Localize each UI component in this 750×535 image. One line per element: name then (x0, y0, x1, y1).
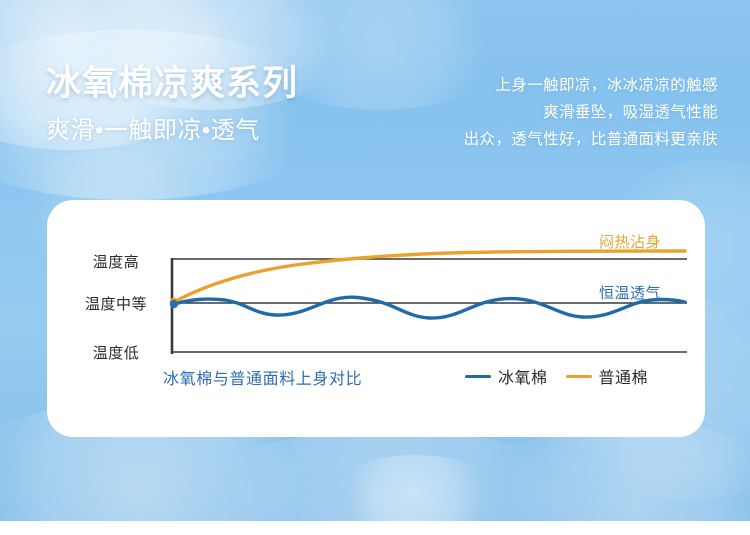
description-line-3: 出众，透气性好，比普通面料更亲肤 (388, 126, 718, 153)
legend-item-ice-oxygen-cotton: 冰氧棉 (465, 364, 548, 388)
chart-card: 温度高 温度中等 温度低 闷热沾身 恒温透气 冰氧棉与普通面料上身对比 冰氧棉 … (47, 200, 705, 437)
legend-label-ice-oxygen-cotton: 冰氧棉 (498, 364, 548, 388)
legend-swatch-blue (465, 375, 491, 378)
legend-item-ordinary-cotton: 普通棉 (566, 364, 649, 388)
chart-caption: 冰氧棉与普通面料上身对比 (163, 365, 362, 389)
poster-root: 冰氧棉凉爽系列 爽滑•一触即凉•透气 上身一触即凉，冰冰凉凉的触感 爽滑垂坠，吸… (0, 0, 750, 535)
description-block: 上身一触即凉，冰冰凉凉的触感 爽滑垂坠，吸湿透气性能 出众，透气性好，比普通面料… (388, 72, 718, 153)
chart-area: 温度高 温度中等 温度低 闷热沾身 恒温透气 冰氧棉与普通面料上身对比 冰氧棉 … (47, 200, 705, 437)
y-tick-label-medium: 温度中等 (60, 293, 172, 314)
y-tick-label-low: 温度低 (60, 342, 172, 363)
legend-swatch-orange (566, 375, 592, 378)
page-title: 冰氧棉凉爽系列 (46, 62, 406, 106)
bottom-white-strip (0, 521, 750, 535)
annotation-constant-temperature: 恒温透气 (599, 282, 661, 303)
page-subtitle: 爽滑•一触即凉•透气 (46, 115, 406, 147)
annotation-stuffy-sticky: 闷热沾身 (599, 231, 661, 252)
y-tick-label-high: 温度高 (60, 251, 172, 272)
headline-block: 冰氧棉凉爽系列 爽滑•一触即凉•透气 (46, 62, 406, 147)
cloud-shape (180, 430, 600, 521)
chart-legend: 冰氧棉 普通棉 (465, 364, 648, 388)
cloud-shape (330, 455, 500, 521)
description-line-2: 爽滑垂坠，吸湿透气性能 (388, 99, 718, 126)
legend-label-ordinary-cotton: 普通棉 (599, 364, 649, 388)
description-line-1: 上身一触即凉，冰冰凉凉的触感 (388, 72, 718, 99)
